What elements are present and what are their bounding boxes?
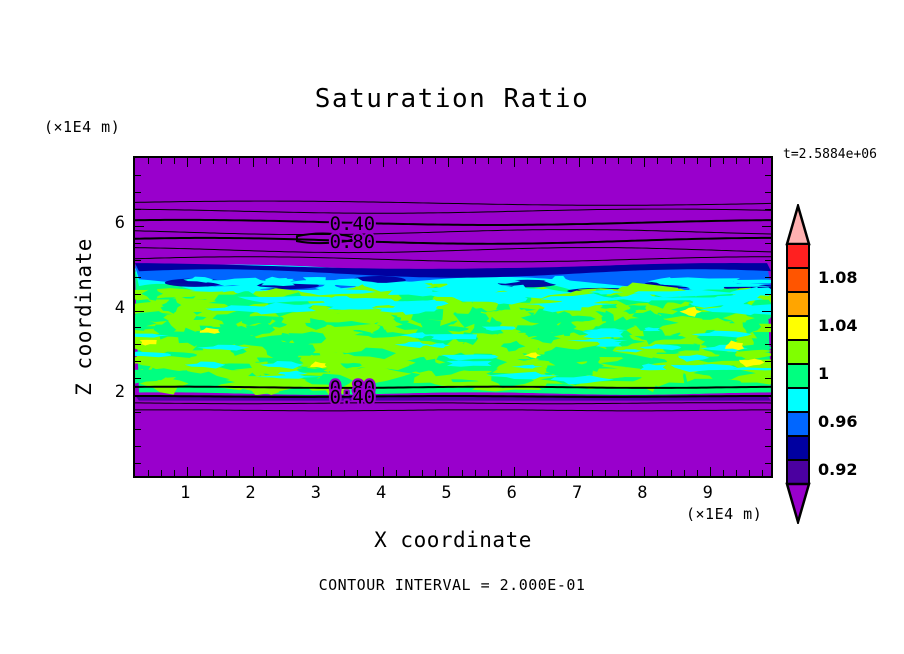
x-tick bbox=[488, 470, 489, 476]
x-tick-top bbox=[279, 158, 280, 164]
x-tick bbox=[370, 470, 371, 476]
x-tick bbox=[213, 470, 214, 476]
x-tick bbox=[592, 470, 593, 476]
x-tick-top bbox=[200, 158, 201, 164]
contour-interval-caption: CONTOUR INTERVAL = 2.000E-01 bbox=[0, 576, 904, 594]
x-tick-top bbox=[396, 158, 397, 164]
x-tick-top bbox=[253, 158, 254, 167]
x-tick bbox=[671, 470, 672, 476]
x-tick bbox=[161, 470, 162, 476]
x-tick-top bbox=[383, 158, 384, 167]
x-tick-top bbox=[488, 158, 489, 164]
x-tick-top bbox=[174, 158, 175, 164]
x-tick-top bbox=[566, 158, 567, 164]
x-tick bbox=[148, 470, 149, 476]
y-tick-right bbox=[762, 226, 771, 227]
y-tick-right bbox=[762, 311, 771, 312]
y-tick bbox=[135, 412, 141, 413]
x-tick-top bbox=[292, 158, 293, 164]
x-tick-top bbox=[357, 158, 358, 164]
x-tick bbox=[657, 470, 658, 476]
contour-label: 0.40 bbox=[330, 387, 375, 408]
x-tick bbox=[553, 470, 554, 476]
x-tick bbox=[749, 470, 750, 476]
x-tick-top bbox=[422, 158, 423, 164]
x-tick-top bbox=[723, 158, 724, 164]
y-axis-title: Z coordinate bbox=[72, 217, 96, 417]
y-tick bbox=[135, 175, 141, 176]
x-tick-top bbox=[239, 158, 240, 164]
x-tick-top bbox=[318, 158, 319, 167]
x-axis-title: X coordinate bbox=[133, 528, 773, 552]
x-tick bbox=[318, 467, 319, 476]
x-tick bbox=[383, 467, 384, 476]
y-tick-right bbox=[765, 277, 771, 278]
x-tick bbox=[187, 467, 188, 476]
y-tick-right bbox=[762, 395, 771, 396]
x-tick bbox=[200, 470, 201, 476]
x-tick-label: 4 bbox=[366, 483, 396, 503]
x-tick-top bbox=[527, 158, 528, 164]
x-tick-top bbox=[762, 158, 763, 164]
contour-field: 0.400.800.800.40 bbox=[135, 158, 771, 476]
x-tick-top bbox=[749, 158, 750, 164]
x-tick bbox=[710, 467, 711, 476]
x-tick-top bbox=[736, 158, 737, 164]
y-tick-right bbox=[765, 361, 771, 362]
x-tick bbox=[396, 470, 397, 476]
x-tick bbox=[174, 470, 175, 476]
x-tick-label: 9 bbox=[693, 483, 723, 503]
x-tick-top bbox=[697, 158, 698, 164]
time-annotation: t=2.5884e+06 bbox=[783, 147, 877, 162]
page-title: Saturation Ratio bbox=[0, 84, 904, 114]
x-tick bbox=[618, 470, 619, 476]
y-tick bbox=[135, 311, 144, 312]
y-tick bbox=[135, 327, 141, 328]
x-tick-top bbox=[592, 158, 593, 164]
x-tick-top bbox=[514, 158, 515, 167]
x-tick bbox=[605, 470, 606, 476]
x-tick bbox=[239, 470, 240, 476]
y-tick-right bbox=[765, 463, 771, 464]
x-tick bbox=[736, 470, 737, 476]
y-tick bbox=[135, 429, 141, 430]
x-tick bbox=[540, 470, 541, 476]
x-tick-top bbox=[148, 158, 149, 164]
x-tick-top bbox=[409, 158, 410, 164]
x-tick bbox=[579, 467, 580, 476]
y-tick bbox=[135, 361, 141, 362]
y-tick bbox=[135, 395, 144, 396]
x-tick-top bbox=[448, 158, 449, 167]
x-tick-top bbox=[305, 158, 306, 164]
contour-plot-area: 0.400.800.800.40 bbox=[133, 156, 773, 478]
x-tick-top bbox=[631, 158, 632, 164]
x-tick-label: 1 bbox=[170, 483, 200, 503]
x-tick-top bbox=[331, 158, 332, 164]
y-tick bbox=[135, 260, 141, 261]
colorbar-swatches bbox=[782, 204, 814, 524]
y-tick-right bbox=[765, 344, 771, 345]
x-tick-top bbox=[710, 158, 711, 167]
y-tick-right bbox=[765, 175, 771, 176]
y-tick-label: 2 bbox=[105, 382, 125, 402]
x-tick-top bbox=[266, 158, 267, 164]
colorbar-tick-label: 1.04 bbox=[818, 316, 857, 335]
y-tick bbox=[135, 344, 141, 345]
x-tick bbox=[266, 470, 267, 476]
x-tick-top bbox=[553, 158, 554, 164]
y-tick-right bbox=[765, 209, 771, 210]
y-tick-right bbox=[765, 294, 771, 295]
y-tick-right bbox=[765, 243, 771, 244]
colorbar-tick-label: 1.08 bbox=[818, 268, 857, 287]
y-tick-right bbox=[765, 260, 771, 261]
x-tick bbox=[514, 467, 515, 476]
x-tick bbox=[305, 470, 306, 476]
x-tick bbox=[566, 470, 567, 476]
x-tick bbox=[344, 470, 345, 476]
y-tick-right bbox=[765, 378, 771, 379]
y-tick-right bbox=[765, 412, 771, 413]
x-tick bbox=[422, 470, 423, 476]
x-tick bbox=[501, 470, 502, 476]
y-tick-right bbox=[765, 192, 771, 193]
y-tick bbox=[135, 209, 141, 210]
x-tick bbox=[527, 470, 528, 476]
y-axis-unit-label: (×1E4 m) bbox=[44, 118, 120, 136]
y-tick bbox=[135, 226, 144, 227]
x-tick-top bbox=[671, 158, 672, 164]
y-tick bbox=[135, 294, 141, 295]
colorbar-tick-label: 0.96 bbox=[818, 412, 857, 431]
x-tick-top bbox=[187, 158, 188, 167]
x-tick bbox=[762, 470, 763, 476]
x-tick bbox=[684, 470, 685, 476]
x-tick-top bbox=[657, 158, 658, 164]
x-tick-top bbox=[344, 158, 345, 164]
x-tick bbox=[279, 470, 280, 476]
x-tick-label: 2 bbox=[236, 483, 266, 503]
x-tick-top bbox=[435, 158, 436, 164]
y-tick-right bbox=[765, 327, 771, 328]
x-tick-top bbox=[605, 158, 606, 164]
x-tick bbox=[292, 470, 293, 476]
colorbar-tick-label: 0.92 bbox=[818, 460, 857, 479]
y-tick-right bbox=[765, 446, 771, 447]
y-tick bbox=[135, 463, 141, 464]
x-tick-top bbox=[213, 158, 214, 164]
y-tick bbox=[135, 243, 141, 244]
y-tick bbox=[135, 378, 141, 379]
y-tick bbox=[135, 277, 141, 278]
x-tick-top bbox=[540, 158, 541, 164]
x-tick bbox=[697, 470, 698, 476]
colorbar bbox=[782, 204, 814, 524]
x-tick-label: 6 bbox=[497, 483, 527, 503]
x-tick bbox=[723, 470, 724, 476]
x-tick bbox=[409, 470, 410, 476]
y-tick-label: 4 bbox=[105, 298, 125, 318]
x-tick bbox=[357, 470, 358, 476]
x-tick bbox=[448, 467, 449, 476]
x-tick bbox=[331, 470, 332, 476]
x-tick bbox=[253, 467, 254, 476]
y-tick-right bbox=[765, 429, 771, 430]
x-tick-top bbox=[370, 158, 371, 164]
x-tick-top bbox=[226, 158, 227, 164]
y-tick bbox=[135, 446, 141, 447]
x-tick bbox=[631, 470, 632, 476]
x-tick-top bbox=[475, 158, 476, 164]
x-tick-label: 8 bbox=[627, 483, 657, 503]
x-tick bbox=[462, 470, 463, 476]
x-tick bbox=[226, 470, 227, 476]
x-tick-top bbox=[684, 158, 685, 164]
x-tick-top bbox=[644, 158, 645, 167]
x-tick-label: 3 bbox=[301, 483, 331, 503]
x-tick-top bbox=[462, 158, 463, 164]
x-tick-top bbox=[618, 158, 619, 164]
x-tick-label: 7 bbox=[562, 483, 592, 503]
y-tick bbox=[135, 192, 141, 193]
x-tick bbox=[644, 467, 645, 476]
x-tick bbox=[475, 470, 476, 476]
x-axis-unit-label: (×1E4 m) bbox=[686, 505, 762, 523]
x-tick-label: 5 bbox=[431, 483, 461, 503]
y-tick-label: 6 bbox=[105, 213, 125, 233]
x-tick-top bbox=[579, 158, 580, 167]
contour-label: 0.80 bbox=[330, 232, 375, 253]
colorbar-tick-label: 1 bbox=[818, 364, 829, 383]
x-tick bbox=[435, 470, 436, 476]
x-tick-top bbox=[161, 158, 162, 164]
x-tick-top bbox=[501, 158, 502, 164]
